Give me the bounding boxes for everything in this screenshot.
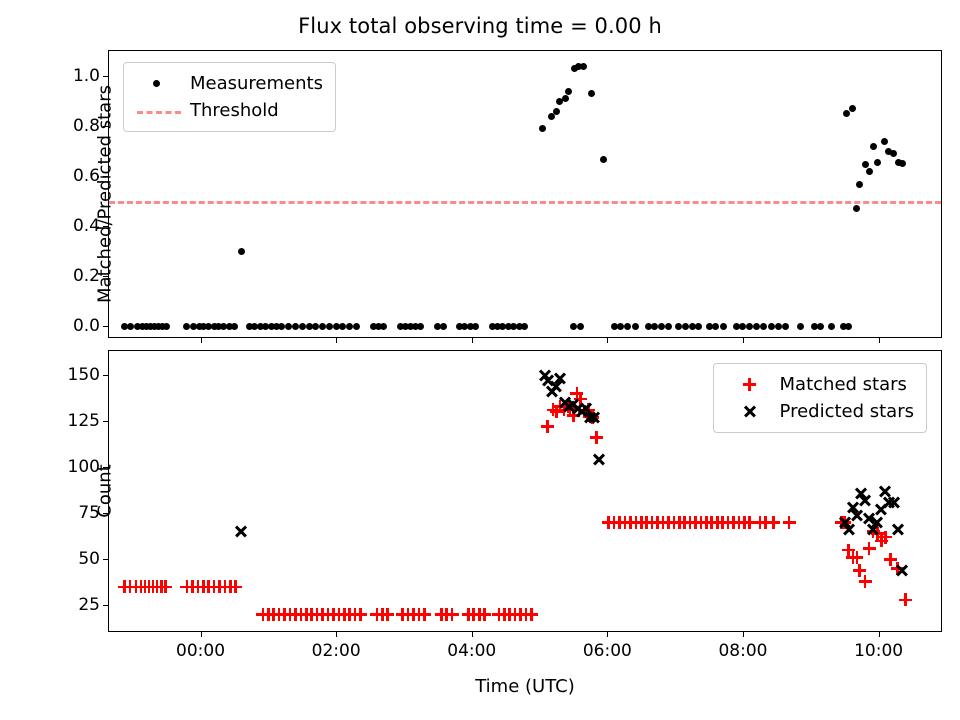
- y-tick-label: 0.4: [73, 216, 100, 236]
- measurement-point: [580, 63, 587, 70]
- measurement-point: [632, 323, 639, 330]
- measurement-point: [292, 323, 299, 330]
- legend-label-threshold: Threshold: [186, 100, 279, 121]
- x-tick-mark: [607, 631, 608, 637]
- measurement-point: [881, 138, 888, 145]
- y-tick-label: 100: [68, 457, 100, 477]
- measurement-point: [238, 248, 245, 255]
- measurement-point: [562, 95, 569, 102]
- measurement-point: [539, 125, 546, 132]
- x-tick-mark: [607, 337, 608, 343]
- figure-title: Flux total observing time = 0.00 h: [0, 14, 960, 38]
- measurement-point: [472, 323, 479, 330]
- cross-marker-icon: [724, 401, 776, 423]
- measurement-point: [849, 105, 856, 112]
- threshold-line: [109, 201, 941, 204]
- legend-label-measurements: Measurements: [186, 73, 323, 94]
- legend-item-matched-stars: Matched stars: [724, 371, 914, 398]
- threshold-dash-icon: [134, 100, 186, 122]
- x-axis-label: Time (UTC): [108, 676, 942, 697]
- y-tick-label: 150: [68, 365, 100, 385]
- measurement-point: [899, 160, 906, 167]
- measurement-point: [565, 88, 572, 95]
- x-tick-mark: [879, 631, 880, 637]
- x-tick-label: 10:00: [854, 641, 903, 661]
- x-tick-mark: [336, 337, 337, 343]
- x-tick-mark: [743, 631, 744, 637]
- matplotlib-figure: Flux total observing time = 0.00 h Match…: [0, 0, 960, 720]
- measurement-point: [326, 323, 333, 330]
- x-tick-mark: [472, 337, 473, 343]
- measurement-point: [695, 323, 702, 330]
- measurement-point: [682, 323, 689, 330]
- measurement-point: [720, 323, 727, 330]
- x-tick-mark: [879, 337, 880, 343]
- x-tick-mark: [336, 631, 337, 637]
- measurement-point: [775, 323, 782, 330]
- plus-marker-icon: [724, 374, 776, 396]
- measurement-point: [853, 205, 860, 212]
- x-tick-mark: [472, 631, 473, 637]
- y-tick-label: 25: [78, 595, 100, 615]
- measurement-point: [843, 110, 850, 117]
- y-tick-label: 75: [78, 503, 100, 523]
- y-tick-label: 0.6: [73, 166, 100, 186]
- count-panel-legend: Matched stars Predicted stars: [713, 363, 927, 433]
- y-tick-label: 50: [78, 549, 100, 569]
- measurement-point: [870, 143, 877, 150]
- measurement-point: [353, 323, 360, 330]
- measurement-point: [570, 323, 577, 330]
- y-tick-label: 0.0: [73, 316, 100, 336]
- x-tick-label: 08:00: [718, 641, 767, 661]
- x-tick-label: 06:00: [583, 641, 632, 661]
- measurement-point: [231, 323, 238, 330]
- x-tick-label: 02:00: [312, 641, 361, 661]
- x-tick-label: 04:00: [447, 641, 496, 661]
- measurement-point: [874, 159, 881, 166]
- measurement-point: [163, 323, 170, 330]
- measurement-point: [665, 323, 672, 330]
- ratio-panel-legend: Measurements Threshold: [123, 62, 336, 132]
- y-tick-label: 125: [68, 411, 100, 431]
- x-tick-label: 00:00: [176, 641, 225, 661]
- measurement-point: [588, 90, 595, 97]
- measurement-point: [856, 181, 863, 188]
- legend-item-measurements: Measurements: [134, 70, 323, 97]
- measurement-point: [866, 168, 873, 175]
- legend-item-predicted-stars: Predicted stars: [724, 398, 914, 425]
- measurement-point: [753, 323, 760, 330]
- ratio-panel-axes: Matched/Predicted stars 0.00.20.40.60.81…: [108, 50, 942, 338]
- measurement-point: [760, 323, 767, 330]
- measurement-point: [553, 108, 560, 115]
- measurement-point: [577, 323, 584, 330]
- measurement-point: [380, 323, 387, 330]
- measurement-point: [521, 323, 528, 330]
- measurement-point: [782, 323, 789, 330]
- y-tick-label: 1.0: [73, 66, 100, 86]
- y-tick-label: 0.8: [73, 116, 100, 136]
- legend-item-threshold: Threshold: [134, 97, 323, 124]
- measurement-point: [828, 323, 835, 330]
- measurement-point: [797, 323, 804, 330]
- measurement-point: [890, 150, 897, 157]
- measurement-point: [675, 323, 682, 330]
- x-tick-mark: [201, 631, 202, 637]
- measurement-point: [600, 156, 607, 163]
- measurement-point: [712, 323, 719, 330]
- x-tick-mark: [201, 337, 202, 343]
- measurement-point: [624, 323, 631, 330]
- measurement-point: [299, 323, 306, 330]
- measurement-point: [127, 323, 134, 330]
- x-tick-mark: [743, 337, 744, 343]
- count-panel-axes: Count 255075100125150 00:0002:0004:0006:…: [108, 350, 942, 632]
- legend-label-predicted-stars: Predicted stars: [776, 401, 914, 422]
- legend-label-matched-stars: Matched stars: [776, 374, 907, 395]
- measurement-point: [440, 323, 447, 330]
- y-tick-label: 0.2: [73, 266, 100, 286]
- measurement-point: [845, 323, 852, 330]
- measurement-point: [817, 323, 824, 330]
- measurement-dot-icon: [134, 73, 186, 95]
- measurement-point: [417, 323, 424, 330]
- measurement-point: [768, 323, 775, 330]
